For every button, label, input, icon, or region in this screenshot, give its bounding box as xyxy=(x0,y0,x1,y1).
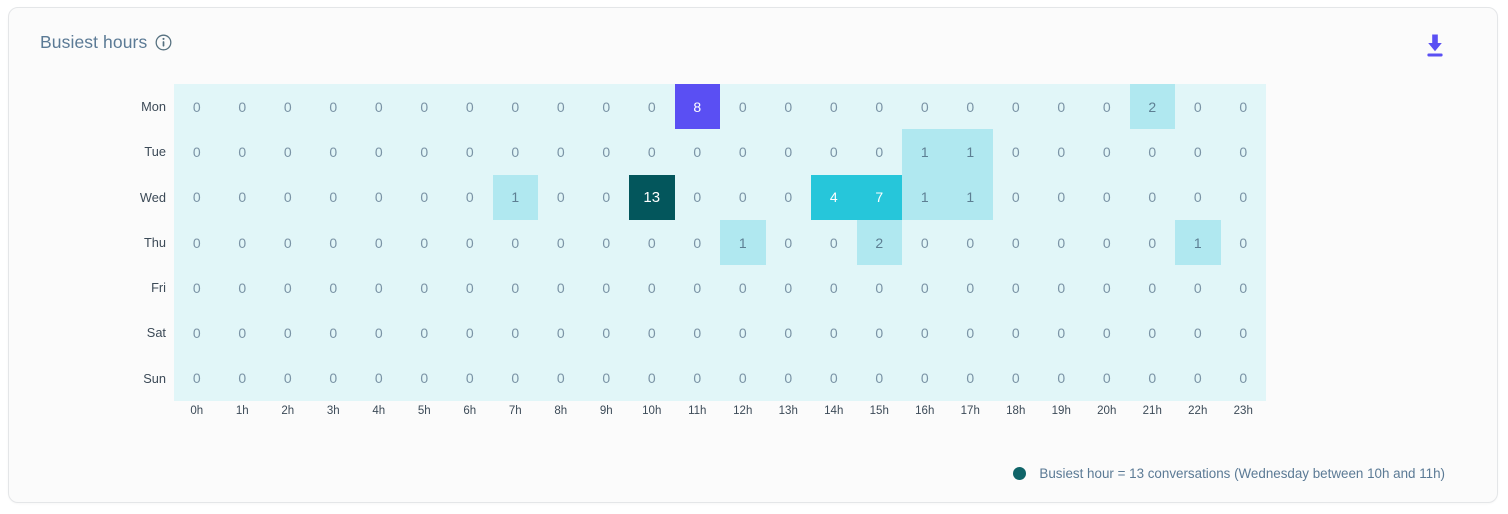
x-tick-10h: 10h xyxy=(629,405,675,417)
heatmap-grid: Mon000000000008000000000200Tue0000000000… xyxy=(174,84,1266,401)
heatmap-cell-wed-16h[interactable]: 1 xyxy=(902,175,948,220)
heatmap-cell-wed-8h[interactable]: 0 xyxy=(538,175,584,220)
x-tick-4h: 4h xyxy=(356,405,402,417)
heatmap-cell-wed-19h[interactable]: 0 xyxy=(1039,175,1085,220)
heatmap-cell-sat-1h[interactable]: 0 xyxy=(220,310,266,355)
heatmap-cell-mon-18h[interactable]: 0 xyxy=(993,84,1039,129)
heatmap-cell-sat-0h[interactable]: 0 xyxy=(174,310,220,355)
heatmap-cell-sun-16h[interactable]: 0 xyxy=(902,356,948,401)
heatmap-cell-sun-3h[interactable]: 0 xyxy=(311,356,357,401)
heatmap-cell-tue-13h[interactable]: 0 xyxy=(766,129,812,174)
heatmap-cell-tue-4h[interactable]: 0 xyxy=(356,129,402,174)
heatmap-cell-tue-15h[interactable]: 0 xyxy=(857,129,903,174)
heatmap-cell-wed-17h[interactable]: 1 xyxy=(948,175,994,220)
heatmap-cell-tue-12h[interactable]: 0 xyxy=(720,129,766,174)
busiest-hours-card: Busiest hours Mon00000000000800000000020… xyxy=(8,7,1498,503)
heatmap-cell-sat-20h[interactable]: 0 xyxy=(1084,310,1130,355)
heatmap-cell-sun-8h[interactable]: 0 xyxy=(538,356,584,401)
heatmap-cell-sun-5h[interactable]: 0 xyxy=(402,356,448,401)
heatmap-cell-thu-15h[interactable]: 2 xyxy=(857,220,903,265)
heatmap-cell-mon-16h[interactable]: 0 xyxy=(902,84,948,129)
heatmap-cell-wed-14h[interactable]: 4 xyxy=(811,175,857,220)
heatmap-cell-sat-4h[interactable]: 0 xyxy=(356,310,402,355)
heatmap-cell-thu-18h[interactable]: 0 xyxy=(993,220,1039,265)
heatmap-cell-sun-10h[interactable]: 0 xyxy=(629,356,675,401)
heatmap-chart: Mon000000000008000000000200Tue0000000000… xyxy=(9,84,1266,417)
heatmap-cell-sun-1h[interactable]: 0 xyxy=(220,356,266,401)
heatmap-cell-thu-10h[interactable]: 0 xyxy=(629,220,675,265)
heatmap-cell-mon-7h[interactable]: 0 xyxy=(493,84,539,129)
heatmap-row-thu: Thu000000000000100200000010 xyxy=(174,220,1266,265)
heatmap-cell-fri-8h[interactable]: 0 xyxy=(538,265,584,310)
heatmap-cell-mon-8h[interactable]: 0 xyxy=(538,84,584,129)
x-tick-7h: 7h xyxy=(493,405,539,417)
heatmap-cell-wed-11h[interactable]: 0 xyxy=(675,175,721,220)
heatmap-cell-wed-6h[interactable]: 0 xyxy=(447,175,493,220)
heatmap-cell-mon-21h[interactable]: 2 xyxy=(1130,84,1176,129)
heatmap-cell-wed-2h[interactable]: 0 xyxy=(265,175,311,220)
x-tick-13h: 13h xyxy=(766,405,812,417)
heatmap-cell-tue-3h[interactable]: 0 xyxy=(311,129,357,174)
x-axis-ticks: 0h1h2h3h4h5h6h7h8h9h10h11h12h13h14h15h16… xyxy=(174,405,1266,417)
legend: Busiest hour = 13 conversations (Wednesd… xyxy=(1013,466,1445,481)
heatmap-cell-sat-22h[interactable]: 0 xyxy=(1175,310,1221,355)
x-tick-12h: 12h xyxy=(720,405,766,417)
heatmap-cell-sun-4h[interactable]: 0 xyxy=(356,356,402,401)
heatmap-cell-sat-8h[interactable]: 0 xyxy=(538,310,584,355)
heatmap-row-wed: Wed0000000100130004711000000 xyxy=(174,175,1266,220)
heatmap-cell-wed-18h[interactable]: 0 xyxy=(993,175,1039,220)
heatmap-cell-sun-9h[interactable]: 0 xyxy=(584,356,630,401)
x-tick-17h: 17h xyxy=(948,405,994,417)
heatmap-cell-tue-17h[interactable]: 1 xyxy=(948,129,994,174)
heatmap-row-cells: 000000000000000000000000 xyxy=(174,356,1266,401)
heatmap-row-cells: 000000000008000000000200 xyxy=(174,84,1266,129)
heatmap-cell-fri-1h[interactable]: 0 xyxy=(220,265,266,310)
heatmap-cell-sun-0h[interactable]: 0 xyxy=(174,356,220,401)
heatmap-cell-wed-3h[interactable]: 0 xyxy=(311,175,357,220)
heatmap-cell-fri-18h[interactable]: 0 xyxy=(993,265,1039,310)
heatmap-cell-sat-18h[interactable]: 0 xyxy=(993,310,1039,355)
heatmap-cell-tue-0h[interactable]: 0 xyxy=(174,129,220,174)
x-tick-3h: 3h xyxy=(311,405,357,417)
heatmap-cell-mon-2h[interactable]: 0 xyxy=(265,84,311,129)
x-tick-16h: 16h xyxy=(902,405,948,417)
row-label-fri: Fri xyxy=(114,265,166,310)
heatmap-cell-mon-15h[interactable]: 0 xyxy=(857,84,903,129)
heatmap-cell-thu-8h[interactable]: 0 xyxy=(538,220,584,265)
heatmap-cell-thu-22h[interactable]: 1 xyxy=(1175,220,1221,265)
heatmap-cell-mon-0h[interactable]: 0 xyxy=(174,84,220,129)
heatmap-cell-wed-23h[interactable]: 0 xyxy=(1221,175,1267,220)
heatmap-cell-wed-13h[interactable]: 0 xyxy=(766,175,812,220)
heatmap-cell-mon-6h[interactable]: 0 xyxy=(447,84,493,129)
heatmap-row-cells: 000000000000000000000000 xyxy=(174,310,1266,355)
x-tick-9h: 9h xyxy=(584,405,630,417)
heatmap-cell-fri-9h[interactable]: 0 xyxy=(584,265,630,310)
heatmap-cell-mon-5h[interactable]: 0 xyxy=(402,84,448,129)
x-tick-20h: 20h xyxy=(1084,405,1130,417)
heatmap-cell-tue-14h[interactable]: 0 xyxy=(811,129,857,174)
heatmap-cell-thu-17h[interactable]: 0 xyxy=(948,220,994,265)
x-tick-18h: 18h xyxy=(993,405,1039,417)
heatmap-cell-mon-9h[interactable]: 0 xyxy=(584,84,630,129)
heatmap-cell-fri-10h[interactable]: 0 xyxy=(629,265,675,310)
x-tick-2h: 2h xyxy=(265,405,311,417)
heatmap-cell-mon-14h[interactable]: 0 xyxy=(811,84,857,129)
heatmap-cell-wed-1h[interactable]: 0 xyxy=(220,175,266,220)
info-circle-icon[interactable] xyxy=(155,34,172,51)
heatmap-cell-sat-2h[interactable]: 0 xyxy=(265,310,311,355)
heatmap-cell-mon-10h[interactable]: 0 xyxy=(629,84,675,129)
x-tick-15h: 15h xyxy=(857,405,903,417)
heatmap-cell-tue-23h[interactable]: 0 xyxy=(1221,129,1267,174)
heatmap-cell-tue-18h[interactable]: 0 xyxy=(993,129,1039,174)
legend-dot-icon xyxy=(1013,467,1026,480)
heatmap-cell-sun-19h[interactable]: 0 xyxy=(1039,356,1085,401)
heatmap-cell-mon-11h[interactable]: 8 xyxy=(675,84,721,129)
download-icon[interactable] xyxy=(1423,33,1447,59)
heatmap-cell-thu-0h[interactable]: 0 xyxy=(174,220,220,265)
heatmap-cell-tue-1h[interactable]: 0 xyxy=(220,129,266,174)
heatmap-cell-tue-8h[interactable]: 0 xyxy=(538,129,584,174)
heatmap-cell-sat-15h[interactable]: 0 xyxy=(857,310,903,355)
heatmap-cell-sun-7h[interactable]: 0 xyxy=(493,356,539,401)
heatmap-cell-tue-11h[interactable]: 0 xyxy=(675,129,721,174)
heatmap-cell-mon-19h[interactable]: 0 xyxy=(1039,84,1085,129)
heatmap-cell-wed-10h[interactable]: 13 xyxy=(629,175,675,220)
heatmap-cell-sun-22h[interactable]: 0 xyxy=(1175,356,1221,401)
x-tick-0h: 0h xyxy=(174,405,220,417)
heatmap-cell-mon-17h[interactable]: 0 xyxy=(948,84,994,129)
heatmap-row-fri: Fri000000000000000000000000 xyxy=(174,265,1266,310)
heatmap-cell-sun-12h[interactable]: 0 xyxy=(720,356,766,401)
heatmap-cell-sat-5h[interactable]: 0 xyxy=(402,310,448,355)
title-group: Busiest hours xyxy=(40,32,172,53)
heatmap-cell-fri-12h[interactable]: 0 xyxy=(720,265,766,310)
heatmap-cell-fri-16h[interactable]: 0 xyxy=(902,265,948,310)
heatmap-cell-mon-22h[interactable]: 0 xyxy=(1175,84,1221,129)
heatmap-cell-fri-13h[interactable]: 0 xyxy=(766,265,812,310)
legend-label: Busiest hour = 13 conversations (Wednesd… xyxy=(1039,466,1445,481)
heatmap-cell-mon-13h[interactable]: 0 xyxy=(766,84,812,129)
heatmap-cell-thu-3h[interactable]: 0 xyxy=(311,220,357,265)
heatmap-cell-sat-23h[interactable]: 0 xyxy=(1221,310,1267,355)
page-title: Busiest hours xyxy=(40,32,147,53)
heatmap-cell-fri-20h[interactable]: 0 xyxy=(1084,265,1130,310)
heatmap-cell-wed-20h[interactable]: 0 xyxy=(1084,175,1130,220)
heatmap-cell-sat-3h[interactable]: 0 xyxy=(311,310,357,355)
x-tick-5h: 5h xyxy=(402,405,448,417)
heatmap-cell-wed-15h[interactable]: 7 xyxy=(857,175,903,220)
heatmap-cell-sat-17h[interactable]: 0 xyxy=(948,310,994,355)
x-tick-23h: 23h xyxy=(1221,405,1267,417)
heatmap-cell-fri-14h[interactable]: 0 xyxy=(811,265,857,310)
heatmap-cell-thu-4h[interactable]: 0 xyxy=(356,220,402,265)
heatmap-cell-sun-2h[interactable]: 0 xyxy=(265,356,311,401)
heatmap-cell-thu-2h[interactable]: 0 xyxy=(265,220,311,265)
heatmap-cell-sun-6h[interactable]: 0 xyxy=(447,356,493,401)
heatmap-cell-fri-23h[interactable]: 0 xyxy=(1221,265,1267,310)
heatmap-cell-tue-19h[interactable]: 0 xyxy=(1039,129,1085,174)
heatmap-cell-thu-14h[interactable]: 0 xyxy=(811,220,857,265)
heatmap-cell-fri-19h[interactable]: 0 xyxy=(1039,265,1085,310)
heatmap-cell-thu-19h[interactable]: 0 xyxy=(1039,220,1085,265)
heatmap-cell-wed-0h[interactable]: 0 xyxy=(174,175,220,220)
heatmap-cell-fri-15h[interactable]: 0 xyxy=(857,265,903,310)
heatmap-cell-fri-3h[interactable]: 0 xyxy=(311,265,357,310)
heatmap-cell-tue-7h[interactable]: 0 xyxy=(493,129,539,174)
row-label-wed: Wed xyxy=(114,175,166,220)
x-tick-11h: 11h xyxy=(675,405,721,417)
heatmap-cell-thu-1h[interactable]: 0 xyxy=(220,220,266,265)
heatmap-cell-sat-19h[interactable]: 0 xyxy=(1039,310,1085,355)
card-header: Busiest hours xyxy=(9,8,1497,82)
heatmap-cell-sat-7h[interactable]: 0 xyxy=(493,310,539,355)
heatmap-row-cells: 000000000000000000000000 xyxy=(174,265,1266,310)
heatmap-cell-sun-11h[interactable]: 0 xyxy=(675,356,721,401)
heatmap-cell-thu-9h[interactable]: 0 xyxy=(584,220,630,265)
heatmap-cell-thu-7h[interactable]: 0 xyxy=(493,220,539,265)
heatmap-cell-tue-9h[interactable]: 0 xyxy=(584,129,630,174)
heatmap-cell-wed-7h[interactable]: 1 xyxy=(493,175,539,220)
heatmap-cell-thu-16h[interactable]: 0 xyxy=(902,220,948,265)
heatmap-cell-fri-22h[interactable]: 0 xyxy=(1175,265,1221,310)
heatmap-cell-tue-20h[interactable]: 0 xyxy=(1084,129,1130,174)
heatmap-cell-tue-2h[interactable]: 0 xyxy=(265,129,311,174)
x-tick-8h: 8h xyxy=(538,405,584,417)
heatmap-cell-fri-7h[interactable]: 0 xyxy=(493,265,539,310)
heatmap-cell-wed-5h[interactable]: 0 xyxy=(402,175,448,220)
heatmap-row-cells: 000000000000100200000010 xyxy=(174,220,1266,265)
heatmap-cell-sun-14h[interactable]: 0 xyxy=(811,356,857,401)
heatmap-cell-tue-21h[interactable]: 0 xyxy=(1130,129,1176,174)
heatmap-cell-wed-9h[interactable]: 0 xyxy=(584,175,630,220)
heatmap-cell-tue-22h[interactable]: 0 xyxy=(1175,129,1221,174)
heatmap-cell-tue-10h[interactable]: 0 xyxy=(629,129,675,174)
heatmap-cell-fri-6h[interactable]: 0 xyxy=(447,265,493,310)
row-label-thu: Thu xyxy=(114,220,166,265)
heatmap-row-cells: 0000000100130004711000000 xyxy=(174,175,1266,220)
heatmap-cell-wed-4h[interactable]: 0 xyxy=(356,175,402,220)
heatmap-row-sat: Sat000000000000000000000000 xyxy=(174,310,1266,355)
heatmap-cell-thu-5h[interactable]: 0 xyxy=(402,220,448,265)
heatmap-cell-mon-23h[interactable]: 0 xyxy=(1221,84,1267,129)
heatmap-cell-sat-21h[interactable]: 0 xyxy=(1130,310,1176,355)
x-tick-6h: 6h xyxy=(447,405,493,417)
heatmap-cell-fri-17h[interactable]: 0 xyxy=(948,265,994,310)
heatmap-cell-sat-11h[interactable]: 0 xyxy=(675,310,721,355)
heatmap-cell-sat-6h[interactable]: 0 xyxy=(447,310,493,355)
heatmap-cell-mon-1h[interactable]: 0 xyxy=(220,84,266,129)
x-tick-21h: 21h xyxy=(1130,405,1176,417)
heatmap-cell-wed-21h[interactable]: 0 xyxy=(1130,175,1176,220)
heatmap-cell-sat-13h[interactable]: 0 xyxy=(766,310,812,355)
heatmap-cell-sat-10h[interactable]: 0 xyxy=(629,310,675,355)
x-tick-22h: 22h xyxy=(1175,405,1221,417)
heatmap-row-tue: Tue000000000000000011000000 xyxy=(174,129,1266,174)
heatmap-cell-fri-0h[interactable]: 0 xyxy=(174,265,220,310)
row-label-tue: Tue xyxy=(114,129,166,174)
heatmap-cell-sun-23h[interactable]: 0 xyxy=(1221,356,1267,401)
heatmap-cell-thu-11h[interactable]: 0 xyxy=(675,220,721,265)
heatmap-cell-sun-17h[interactable]: 0 xyxy=(948,356,994,401)
x-tick-19h: 19h xyxy=(1039,405,1085,417)
heatmap-cell-thu-12h[interactable]: 1 xyxy=(720,220,766,265)
heatmap-cell-fri-11h[interactable]: 0 xyxy=(675,265,721,310)
heatmap-cell-thu-21h[interactable]: 0 xyxy=(1130,220,1176,265)
heatmap-cell-sat-16h[interactable]: 0 xyxy=(902,310,948,355)
heatmap-cell-wed-22h[interactable]: 0 xyxy=(1175,175,1221,220)
heatmap-cell-sat-14h[interactable]: 0 xyxy=(811,310,857,355)
row-label-sat: Sat xyxy=(114,310,166,355)
heatmap-cell-fri-4h[interactable]: 0 xyxy=(356,265,402,310)
heatmap-cell-mon-3h[interactable]: 0 xyxy=(311,84,357,129)
heatmap-cell-thu-13h[interactable]: 0 xyxy=(766,220,812,265)
x-tick-1h: 1h xyxy=(220,405,266,417)
heatmap-cell-thu-6h[interactable]: 0 xyxy=(447,220,493,265)
heatmap-cell-sun-21h[interactable]: 0 xyxy=(1130,356,1176,401)
heatmap-cell-mon-4h[interactable]: 0 xyxy=(356,84,402,129)
heatmap-cell-fri-5h[interactable]: 0 xyxy=(402,265,448,310)
row-label-sun: Sun xyxy=(114,356,166,401)
heatmap-cell-tue-16h[interactable]: 1 xyxy=(902,129,948,174)
heatmap-cell-mon-20h[interactable]: 0 xyxy=(1084,84,1130,129)
heatmap-cell-tue-6h[interactable]: 0 xyxy=(447,129,493,174)
heatmap-cell-sun-13h[interactable]: 0 xyxy=(766,356,812,401)
heatmap-cell-thu-20h[interactable]: 0 xyxy=(1084,220,1130,265)
heatmap-row-cells: 000000000000000011000000 xyxy=(174,129,1266,174)
heatmap-cell-sun-20h[interactable]: 0 xyxy=(1084,356,1130,401)
heatmap-cell-sat-12h[interactable]: 0 xyxy=(720,310,766,355)
heatmap-cell-sun-18h[interactable]: 0 xyxy=(993,356,1039,401)
heatmap-cell-sun-15h[interactable]: 0 xyxy=(857,356,903,401)
heatmap-cell-tue-5h[interactable]: 0 xyxy=(402,129,448,174)
x-tick-14h: 14h xyxy=(811,405,857,417)
heatmap-cell-mon-12h[interactable]: 0 xyxy=(720,84,766,129)
heatmap-cell-fri-21h[interactable]: 0 xyxy=(1130,265,1176,310)
heatmap-cell-fri-2h[interactable]: 0 xyxy=(265,265,311,310)
heatmap-cell-sat-9h[interactable]: 0 xyxy=(584,310,630,355)
heatmap-row-sun: Sun000000000000000000000000 xyxy=(174,356,1266,401)
heatmap-row-mon: Mon000000000008000000000200 xyxy=(174,84,1266,129)
row-label-mon: Mon xyxy=(114,84,166,129)
heatmap-cell-thu-23h[interactable]: 0 xyxy=(1221,220,1267,265)
heatmap-cell-wed-12h[interactable]: 0 xyxy=(720,175,766,220)
